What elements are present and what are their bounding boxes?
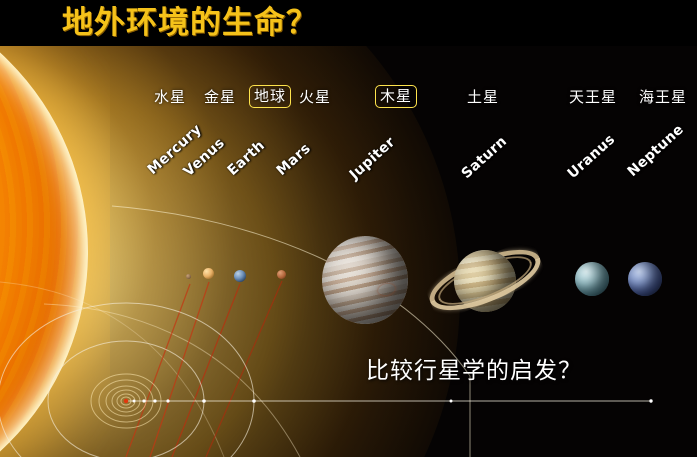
label-cn-earth: 地球: [249, 85, 291, 108]
caption-text: 比较行星学的启发？: [366, 356, 582, 386]
planet-venus: [203, 268, 214, 279]
planet-jupiter: [322, 236, 408, 324]
label-cn-saturn: 土星: [467, 88, 499, 106]
label-cn-mars: 火星: [299, 88, 331, 106]
planet-saturn: [424, 228, 546, 332]
sun-photosphere: [0, 46, 88, 457]
solar-system-slide: 地外环境的生命？: [0, 0, 697, 457]
sun: [0, 46, 110, 457]
solar-system-image: 水星 金星 地球 火星 木星 土星 天王星 海王星 Mercury Venus …: [0, 46, 697, 457]
planet-uranus: [575, 262, 609, 296]
page-title: 地外环境的生命？: [62, 2, 318, 44]
planet-mercury: [186, 274, 191, 279]
planet-earth: [234, 270, 246, 282]
label-cn-venus: 金星: [204, 88, 236, 106]
planet-neptune: [628, 262, 662, 296]
sun-mottling: [0, 46, 88, 457]
label-cn-mercury: 水星: [154, 88, 186, 106]
great-red-spot: [377, 282, 396, 296]
label-cn-neptune: 海王星: [639, 88, 687, 106]
title-band: 地外环境的生命？: [0, 0, 697, 46]
planet-mars: [277, 270, 286, 279]
label-cn-jupiter: 木星: [375, 85, 417, 108]
label-cn-uranus: 天王星: [569, 88, 617, 106]
